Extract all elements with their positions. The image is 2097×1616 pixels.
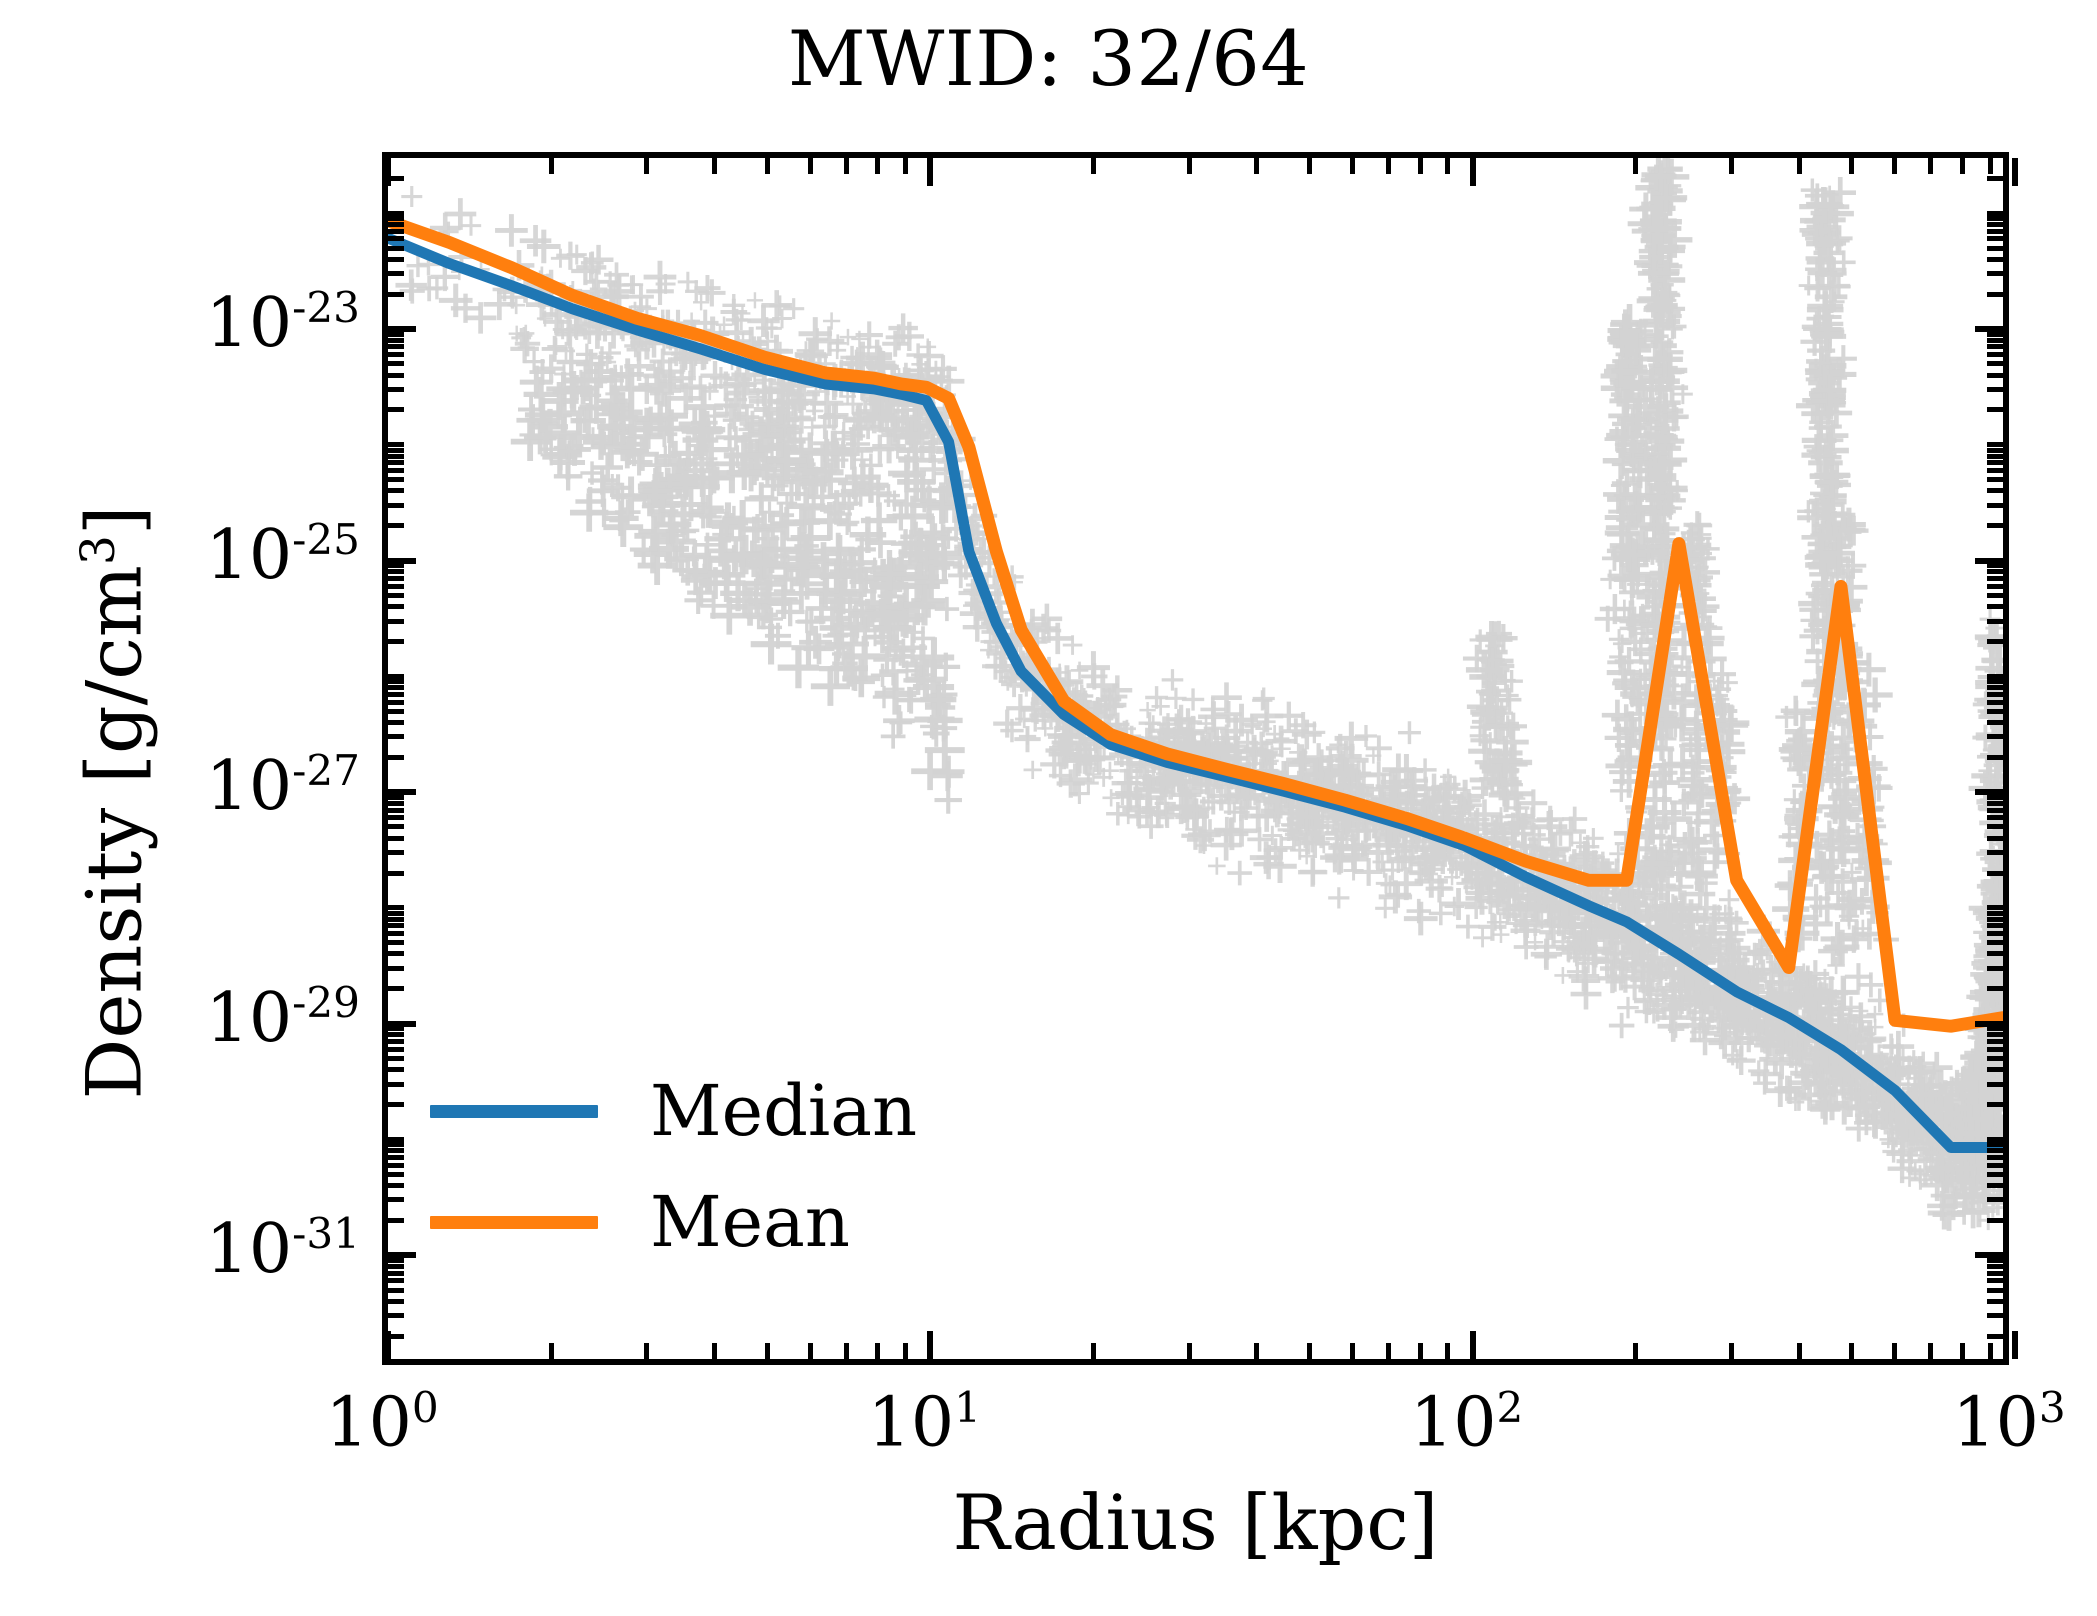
y-tick-label: 10-31: [206, 1209, 360, 1289]
figure-container: MWID: 32/64 100101102103 10-2310-2510-27…: [0, 0, 2097, 1616]
y-tick-minor: [388, 801, 404, 806]
y-tick-base: 10: [206, 515, 293, 594]
y-tick-minor-right: [1987, 563, 2003, 568]
x-axis-label-text: Radius [kpc]: [953, 1478, 1439, 1567]
x-tick-minor-top: [1960, 158, 1965, 174]
x-tick-major-top: [1470, 158, 1476, 186]
y-tick-minor: [388, 503, 404, 508]
y-tick-minor-right: [1987, 292, 2003, 297]
y-tick-minor: [388, 679, 404, 684]
scatter-marker: [778, 647, 819, 688]
y-tick-minor: [388, 1155, 404, 1160]
y-tick-minor-right: [1987, 373, 2003, 378]
scatter-marker: [1162, 669, 1184, 691]
legend: Median Mean: [430, 1080, 917, 1254]
y-tick-minor-right: [1987, 1163, 2003, 1168]
legend-item-mean[interactable]: Mean: [430, 1191, 917, 1254]
y-tick-minor-right: [1987, 1271, 2003, 1276]
y-tick-base: 10: [206, 978, 293, 1057]
y-tick-minor-right: [1987, 361, 2003, 366]
x-tick-major: [1470, 1331, 1476, 1359]
y-tick-minor-right: [1987, 576, 2003, 581]
x-tick-minor-top: [1988, 158, 1993, 174]
legend-swatch-median: [430, 1105, 598, 1118]
y-tick-minor: [388, 222, 404, 227]
x-tick-minor: [1849, 1343, 1854, 1359]
y-tick-minor: [388, 1271, 404, 1276]
y-tick-minor: [388, 836, 404, 841]
y-tick-minor-right: [1987, 236, 2003, 241]
y-tick-exponent: -27: [292, 746, 360, 795]
scatter-marker: [747, 292, 763, 308]
x-tick-minor: [1960, 1343, 1965, 1359]
y-tick-base: 10: [206, 1210, 293, 1289]
y-tick-minor: [388, 951, 404, 956]
y-tick-minor-right: [1987, 1313, 2003, 1318]
y-tick-minor-right: [1987, 720, 2003, 725]
y-tick-minor-right: [1987, 917, 2003, 922]
scatter-marker: [761, 290, 792, 321]
y-tick-minor: [388, 176, 404, 181]
y-tick-minor-right: [1987, 619, 2003, 624]
scatter-marker: [1398, 721, 1421, 744]
y-tick-minor-right: [1987, 1047, 2003, 1052]
y-tick-minor: [388, 755, 404, 760]
y-tick-minor: [388, 246, 404, 251]
y-tick-minor: [388, 344, 404, 349]
y-axis-label-wrapper: Density [g/cm3]: [70, 353, 159, 1253]
x-tick-minor-top: [1445, 158, 1450, 174]
y-tick-minor-right: [1987, 523, 2003, 528]
x-tick-minor: [844, 1343, 849, 1359]
y-tick-minor-right: [1987, 488, 2003, 493]
y-tick-minor-right: [1987, 1183, 2003, 1188]
y-tick-minor: [388, 1102, 404, 1107]
y-tick-minor: [388, 229, 404, 234]
y-tick-minor: [388, 923, 404, 928]
scatter-marker: [1801, 179, 1824, 202]
x-tick-minor: [1892, 1343, 1897, 1359]
x-tick-base: 10: [868, 1384, 955, 1463]
x-tick-label: 101: [868, 1383, 981, 1463]
y-tick-minor: [388, 1047, 404, 1052]
y-tick-minor: [388, 1142, 404, 1147]
y-tick-minor-right: [1987, 700, 2003, 705]
y-tick-minor-right: [1987, 940, 2003, 945]
y-tick-minor: [388, 815, 404, 820]
y-tick-minor: [388, 257, 404, 262]
x-tick-minor: [549, 1343, 554, 1359]
y-tick-minor: [388, 271, 404, 276]
x-tick-minor-top: [1418, 158, 1423, 174]
y-tick-minor-right: [1987, 1334, 2003, 1339]
x-tick-minor: [1386, 1343, 1391, 1359]
y-tick-minor-right: [1987, 222, 2003, 227]
x-tick-exponent: 3: [2039, 1383, 2066, 1432]
x-tick-major: [2012, 1331, 2018, 1359]
y-tick-minor-decade: [388, 442, 404, 447]
scatter-marker: [646, 277, 674, 305]
y-tick-minor: [388, 576, 404, 581]
y-tick-minor-decade: [388, 211, 404, 216]
y-tick-minor: [388, 1278, 404, 1283]
y-tick-minor: [388, 639, 404, 644]
scatter-marker: [1078, 773, 1099, 794]
x-tick-label: 102: [1410, 1383, 1523, 1463]
x-tick-minor-top: [1729, 158, 1734, 174]
scatter-marker: [1600, 570, 1620, 590]
y-tick-minor-right: [1987, 836, 2003, 841]
y-tick-label: 10-25: [206, 515, 360, 595]
scatter-marker: [461, 216, 481, 236]
scatter-marker: [1366, 735, 1392, 761]
x-tick-exponent: 1: [954, 1383, 981, 1432]
y-tick-minor-right: [1987, 679, 2003, 684]
scatter-marker: [1404, 902, 1438, 936]
x-tick-major-top: [927, 158, 933, 186]
y-tick-minor-right: [1987, 951, 2003, 956]
y-tick-minor-right: [1987, 338, 2003, 343]
x-tick-minor-top: [1633, 158, 1638, 174]
y-tick-minor-right: [1987, 911, 2003, 916]
y-tick-minor-right: [1987, 815, 2003, 820]
y-tick-minor: [388, 850, 404, 855]
x-tick-minor: [644, 1343, 649, 1359]
y-tick-minor: [388, 692, 404, 697]
y-tick-minor: [388, 1148, 404, 1153]
y-tick-minor-right: [1987, 931, 2003, 936]
y-tick-minor-right: [1987, 1264, 2003, 1269]
y-tick-minor-right: [1987, 808, 2003, 813]
y-tick-minor-right: [1987, 1299, 2003, 1304]
y-tick-minor: [388, 361, 404, 366]
y-tick-minor-right: [1987, 1218, 2003, 1223]
y-tick-minor: [388, 720, 404, 725]
y-tick-minor: [388, 824, 404, 829]
y-tick-minor: [388, 569, 404, 574]
y-tick-minor: [388, 734, 404, 739]
x-tick-minor-top: [903, 158, 908, 174]
scatter-marker: [1719, 890, 1739, 910]
y-tick-minor: [388, 454, 404, 459]
y-tick-minor-right: [1987, 1172, 2003, 1177]
scatter-marker: [1609, 1013, 1634, 1038]
y-tick-minor-right: [1987, 1142, 2003, 1147]
y-tick-minor-right: [1987, 1082, 2003, 1087]
y-tick-minor: [388, 1197, 404, 1202]
y-tick-minor: [388, 1288, 404, 1293]
y-tick-minor-right: [1987, 1067, 2003, 1072]
scatter-marker: [551, 249, 570, 268]
x-tick-minor-top: [875, 158, 880, 174]
scatter-marker: [1182, 688, 1204, 710]
x-tick-minor-top: [712, 158, 717, 174]
y-tick-minor: [388, 216, 404, 221]
y-tick-minor: [388, 292, 404, 297]
y-tick-minor: [388, 986, 404, 991]
x-tick-base: 10: [1410, 1384, 1497, 1463]
y-tick-minor: [388, 448, 404, 453]
legend-item-median[interactable]: Median: [430, 1080, 917, 1143]
scatter-marker: [932, 756, 964, 788]
scatter-marker: [1024, 761, 1042, 779]
y-tick-minor: [388, 1032, 404, 1037]
y-tick-minor: [388, 523, 404, 528]
y-tick-minor-right: [1987, 1288, 2003, 1293]
y-tick-minor: [388, 332, 404, 337]
y-tick-minor-right: [1987, 229, 2003, 234]
x-tick-minor: [1988, 1343, 1993, 1359]
x-tick-major-top: [385, 158, 391, 186]
x-tick-minor: [903, 1343, 908, 1359]
x-tick-minor: [1729, 1343, 1734, 1359]
x-tick-minor: [875, 1343, 880, 1359]
y-tick-minor-right: [1987, 1026, 2003, 1031]
y-tick-minor: [388, 387, 404, 392]
y-tick-minor-decade: [388, 1137, 404, 1142]
scatter-marker: [783, 298, 804, 319]
x-axis-label: Radius [kpc]: [382, 1478, 2009, 1567]
x-tick-minor: [1418, 1343, 1423, 1359]
y-tick-minor: [388, 966, 404, 971]
scatter-marker: [823, 312, 840, 329]
y-tick-minor: [388, 871, 404, 876]
y-tick-minor-right: [1987, 271, 2003, 276]
y-tick-minor: [388, 352, 404, 357]
y-tick-minor-decade-right: [1987, 1137, 2003, 1142]
y-axis-label: Density [g/cm3]: [70, 353, 159, 1253]
scatter-marker: [1227, 861, 1252, 886]
y-tick-minor-right: [1987, 871, 2003, 876]
y-tick-minor-right: [1987, 1056, 2003, 1061]
y-tick-minor-decade-right: [1987, 211, 2003, 216]
y-tick-minor-right: [1987, 639, 2003, 644]
x-tick-minor: [1445, 1343, 1450, 1359]
y-tick-minor: [388, 1067, 404, 1072]
y-tick-minor-right: [1987, 604, 2003, 609]
y-tick-minor-right: [1987, 923, 2003, 928]
y-tick-minor: [388, 1313, 404, 1318]
scatter-marker: [1375, 898, 1395, 918]
x-tick-minor: [1928, 1343, 1933, 1359]
y-tick-exponent: -25: [292, 515, 360, 564]
x-tick-minor-top: [1091, 158, 1096, 174]
y-tick-minor-right: [1987, 986, 2003, 991]
x-tick-minor-top: [1849, 158, 1854, 174]
x-tick-minor: [1091, 1343, 1096, 1359]
y-tick-minor: [388, 1056, 404, 1061]
scatter-marker: [1151, 697, 1169, 715]
y-tick-minor-right: [1987, 685, 2003, 690]
y-tick-minor: [388, 911, 404, 916]
scatter-marker: [1208, 857, 1226, 875]
y-tick-minor-right: [1987, 569, 2003, 574]
y-tick-minor-right: [1987, 584, 2003, 589]
x-tick-label: 103: [1952, 1383, 2065, 1463]
x-tick-base: 10: [1952, 1384, 2039, 1463]
y-tick-minor: [388, 917, 404, 922]
x-tick-minor: [712, 1343, 717, 1359]
legend-label-median: Median: [650, 1080, 917, 1143]
y-tick-minor-decade-right: [1987, 674, 2003, 679]
y-tick-minor: [388, 1334, 404, 1339]
x-tick-minor-top: [1254, 158, 1259, 174]
y-tick-minor-right: [1987, 1155, 2003, 1160]
y-tick-minor: [388, 1082, 404, 1087]
x-tick-minor-top: [1928, 158, 1933, 174]
y-tick-minor-right: [1987, 709, 2003, 714]
y-tick-exponent: -31: [292, 1209, 360, 1258]
y-tick-minor: [388, 1218, 404, 1223]
y-tick-minor-right: [1987, 1258, 2003, 1263]
y-tick-exponent: -23: [292, 283, 360, 332]
y-tick-minor-decade: [388, 674, 404, 679]
scatter-marker: [1328, 887, 1349, 908]
y-tick-minor: [388, 1264, 404, 1269]
scatter-marker: [1355, 725, 1377, 747]
x-tick-minor: [1633, 1343, 1638, 1359]
x-tick-exponent: 0: [412, 1383, 439, 1432]
y-tick-minor-right: [1987, 1197, 2003, 1202]
y-tick-label: 10-29: [206, 978, 360, 1058]
x-tick-minor-top: [808, 158, 813, 174]
y-tick-minor-right: [1987, 387, 2003, 392]
y-tick-minor-right: [1987, 257, 2003, 262]
y-tick-minor-right: [1987, 407, 2003, 412]
y-axis-label-suffix: ]: [70, 506, 159, 536]
scatter-marker: [1298, 858, 1327, 887]
x-tick-minor-top: [1386, 158, 1391, 174]
y-axis-label-prefix: Density [g/cm: [70, 565, 159, 1099]
y-tick-minor-right: [1987, 1032, 2003, 1037]
y-tick-minor: [388, 700, 404, 705]
y-tick-minor-right: [1987, 1039, 2003, 1044]
x-tick-minor-top: [549, 158, 554, 174]
x-tick-minor-top: [844, 158, 849, 174]
x-tick-major-top: [2012, 158, 2018, 186]
x-tick-label: 100: [325, 1383, 438, 1463]
y-tick-minor: [388, 468, 404, 473]
x-tick-minor: [808, 1343, 813, 1359]
y-tick-minor-right: [1987, 344, 2003, 349]
y-tick-minor: [388, 488, 404, 493]
y-tick-minor-right: [1987, 176, 2003, 181]
y-tick-base: 10: [206, 747, 293, 826]
y-tick-minor: [388, 477, 404, 482]
y-tick-label: 10-27: [206, 746, 360, 826]
y-tick-minor: [388, 584, 404, 589]
y-tick-minor-right: [1987, 801, 2003, 806]
y-tick-minor: [388, 1039, 404, 1044]
y-tick-minor: [388, 1172, 404, 1177]
y-tick-minor-right: [1987, 332, 2003, 337]
y-tick-minor-right: [1987, 824, 2003, 829]
y-tick-base: 10: [206, 284, 293, 363]
y-tick-minor-right: [1987, 468, 2003, 473]
y-tick-minor: [388, 685, 404, 690]
x-tick-major: [927, 1331, 933, 1359]
y-tick-minor: [388, 619, 404, 624]
y-tick-minor: [388, 1299, 404, 1304]
y-axis-label-exponent: 3: [71, 535, 126, 565]
x-tick-minor: [1187, 1343, 1192, 1359]
legend-label-mean: Mean: [650, 1191, 850, 1254]
y-tick-minor: [388, 709, 404, 714]
x-tick-exponent: 2: [1497, 1383, 1524, 1432]
y-tick-minor: [388, 931, 404, 936]
y-tick-minor: [388, 593, 404, 598]
scatter-marker: [542, 336, 568, 362]
y-tick-minor: [388, 604, 404, 609]
y-tick-minor-right: [1987, 454, 2003, 459]
scatter-marker: [993, 710, 1021, 738]
x-tick-minor-top: [1350, 158, 1355, 174]
lines-layer: [388, 221, 2003, 1148]
x-tick-minor: [1307, 1343, 1312, 1359]
x-tick-minor: [1350, 1343, 1355, 1359]
y-tick-minor-right: [1987, 1102, 2003, 1107]
y-tick-minor: [388, 1258, 404, 1263]
x-tick-minor-top: [1187, 158, 1192, 174]
scatter-marker: [1473, 928, 1492, 947]
y-tick-minor-right: [1987, 1148, 2003, 1153]
y-tick-minor-right: [1987, 477, 2003, 482]
y-tick-minor-right: [1987, 755, 2003, 760]
page-title: MWID: 32/64: [0, 14, 2097, 103]
y-tick-minor: [388, 940, 404, 945]
x-tick-minor-top: [1892, 158, 1897, 174]
y-tick-minor-right: [1987, 850, 2003, 855]
y-tick-minor-decade: [388, 905, 404, 910]
x-tick-minor: [1254, 1343, 1259, 1359]
y-tick-minor-right: [1987, 246, 2003, 251]
y-tick-minor: [388, 407, 404, 412]
x-tick-minor-top: [765, 158, 770, 174]
y-tick-minor: [388, 373, 404, 378]
y-tick-minor-right: [1987, 795, 2003, 800]
y-tick-minor: [388, 1183, 404, 1188]
x-tick-minor-top: [1797, 158, 1802, 174]
y-tick-minor-right: [1987, 593, 2003, 598]
y-tick-minor: [388, 236, 404, 241]
x-tick-base: 10: [325, 1384, 412, 1463]
y-tick-minor-right: [1987, 448, 2003, 453]
y-tick-minor: [388, 338, 404, 343]
y-tick-minor: [388, 563, 404, 568]
y-tick-minor-right: [1987, 1278, 2003, 1283]
y-tick-minor-right: [1987, 460, 2003, 465]
x-tick-minor-top: [1307, 158, 1312, 174]
y-tick-minor: [388, 795, 404, 800]
y-tick-minor-right: [1987, 734, 2003, 739]
y-tick-minor: [388, 460, 404, 465]
x-tick-minor: [765, 1343, 770, 1359]
legend-swatch-mean: [430, 1216, 598, 1229]
y-tick-exponent: -29: [292, 978, 360, 1027]
y-tick-minor-right: [1987, 216, 2003, 221]
y-tick-minor: [388, 1026, 404, 1031]
y-tick-label: 10-23: [206, 283, 360, 363]
y-tick-minor-right: [1987, 352, 2003, 357]
x-tick-minor: [1797, 1343, 1802, 1359]
scatter-marker: [694, 275, 720, 301]
y-tick-minor-right: [1987, 692, 2003, 697]
y-tick-minor-right: [1987, 503, 2003, 508]
scatter-marker: [401, 186, 422, 207]
y-tick-minor-right: [1987, 966, 2003, 971]
scatter-marker: [1253, 688, 1275, 710]
scatter-marker: [1496, 684, 1518, 706]
